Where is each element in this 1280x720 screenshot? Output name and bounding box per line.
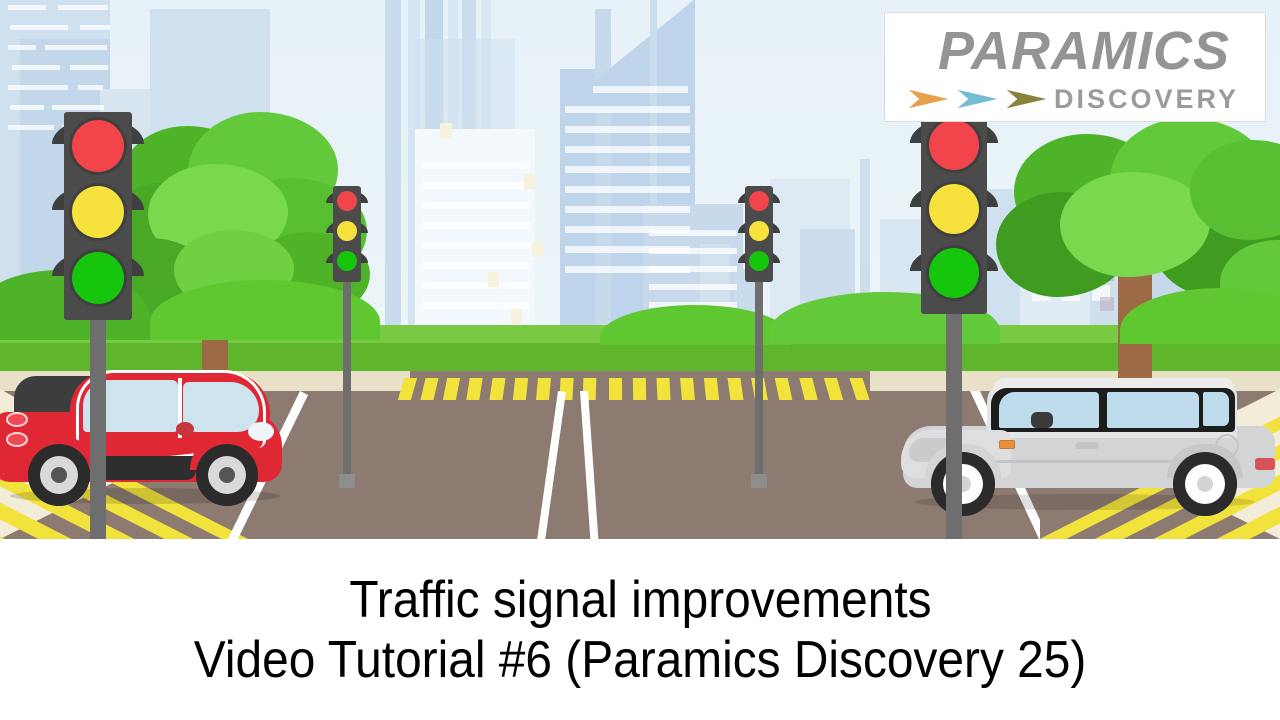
video-frame: PARAMICS DISCOVERY Traffic signal improv…: [0, 0, 1280, 720]
caption-line-2: Video Tutorial #6 (Paramics Discovery 25…: [194, 630, 1087, 690]
yellow-lamp: [72, 186, 124, 238]
traffic-light-pole: [343, 282, 351, 482]
caption-line-1: Traffic signal improvements: [349, 570, 931, 630]
yellow-lamp: [749, 221, 769, 241]
green-lamp: [929, 248, 979, 298]
traffic-light-base: [751, 474, 767, 488]
arrow-orange-icon: [907, 84, 950, 114]
red-lamp: [749, 191, 769, 211]
traffic-light-pole: [946, 312, 962, 539]
title-caption: Traffic signal improvements Video Tutori…: [0, 539, 1280, 720]
yellow-lamp: [929, 184, 979, 234]
title-card-illustration: PARAMICS DISCOVERY: [0, 0, 1280, 539]
arrow-blue-icon: [956, 84, 999, 114]
logo-brand-text: PARAMICS: [903, 24, 1265, 78]
green-lamp: [337, 251, 357, 271]
green-lamp: [72, 252, 124, 304]
red-lamp: [72, 120, 124, 172]
red-compact-car: [0, 360, 310, 520]
red-lamp: [929, 120, 979, 170]
traffic-light-base: [339, 474, 355, 488]
logo-product-text: DISCOVERY: [1054, 84, 1243, 115]
paramics-discovery-logo: PARAMICS DISCOVERY: [884, 12, 1266, 122]
yellow-lamp: [337, 221, 357, 241]
arrow-olive-icon: [1005, 84, 1048, 114]
green-lamp: [749, 251, 769, 271]
traffic-light-pole: [755, 282, 763, 482]
red-lamp: [337, 191, 357, 211]
traffic-light-pole: [90, 316, 106, 539]
